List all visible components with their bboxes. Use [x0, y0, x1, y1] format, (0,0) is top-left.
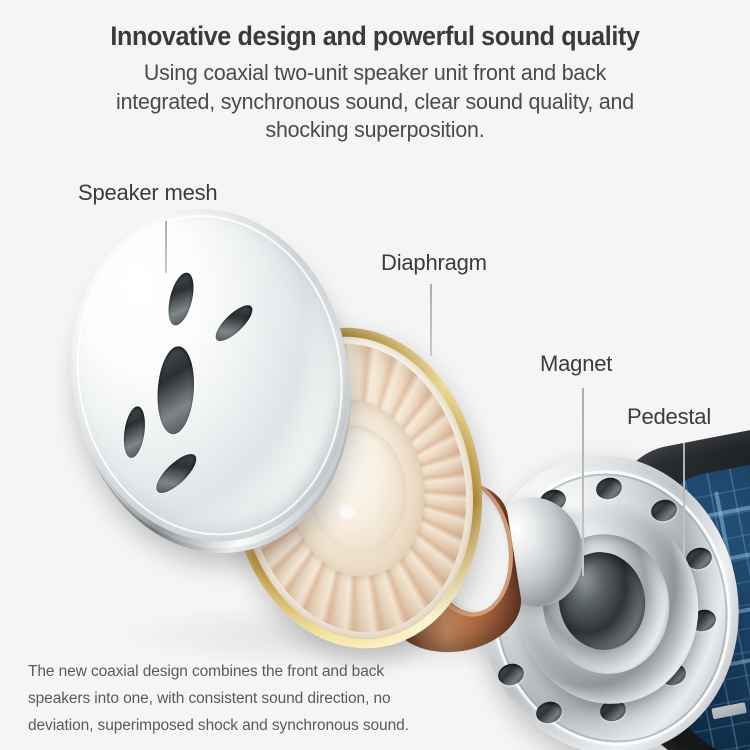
subtitle-line-2: integrated, synchronous sound, clear sou… — [19, 88, 732, 117]
mesh-slot — [164, 270, 198, 328]
callout-label-speaker-mesh: Speaker mesh — [78, 181, 217, 205]
leader-line-diaphragm — [430, 284, 432, 356]
footer-line-2: speakers into one, with consistent sound… — [28, 685, 498, 712]
infographic-page: Innovative design and powerful sound qua… — [0, 0, 750, 750]
subtitle-line-1: Using coaxial two-unit speaker unit fron… — [19, 59, 732, 88]
footer-description: The new coaxial design combines the fron… — [28, 658, 498, 739]
mesh-slot — [121, 405, 148, 459]
mesh-slot — [151, 448, 202, 499]
page-title: Innovative design and powerful sound qua… — [26, 0, 724, 53]
callout-label-diaphragm: Diaphragm — [381, 251, 487, 275]
leader-line-magnet — [582, 388, 584, 576]
mesh-slot — [155, 345, 197, 435]
leader-line-speaker-mesh — [165, 221, 167, 273]
callout-label-magnet: Magnet — [540, 352, 612, 376]
page-subtitle: Using coaxial two-unit speaker unit fron… — [19, 53, 732, 145]
leader-line-pedestal — [683, 443, 685, 561]
footer-line-3: deviation, superimposed shock and synchr… — [28, 712, 498, 739]
header-block: Innovative design and powerful sound qua… — [0, 0, 750, 145]
subtitle-line-3: shocking superposition. — [19, 116, 732, 145]
mesh-slot — [210, 300, 257, 346]
speaker-mesh-grille — [45, 186, 377, 567]
callout-label-pedestal: Pedestal — [627, 405, 711, 429]
footer-line-1: The new coaxial design combines the fron… — [28, 658, 498, 685]
